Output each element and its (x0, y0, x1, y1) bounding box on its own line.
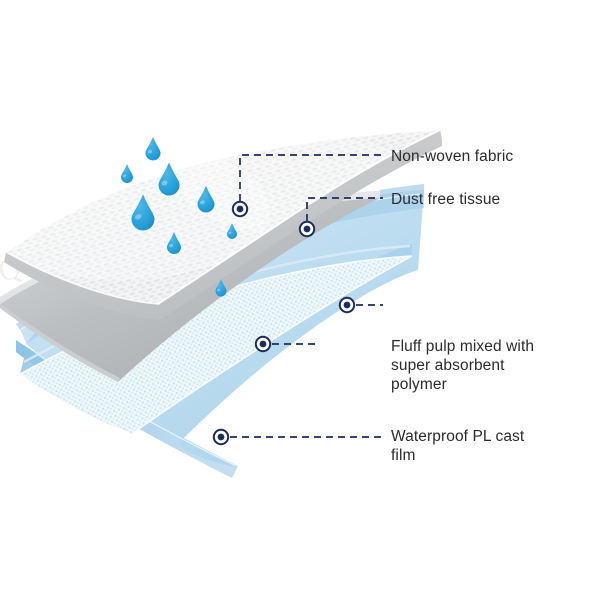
callout-label-waterproof-film: Waterproof PL cast film (391, 427, 524, 465)
layer-cutaway-illustration: QUANTEX QUANTEX QUANTEX (0, 0, 600, 600)
callout-dot-sap-edge-core (344, 302, 351, 309)
callout-dot-waterproof-pl-cast-film-core (218, 434, 225, 441)
callout-dot-dust-free-tissue-core (304, 226, 311, 233)
diagram-canvas: QUANTEX QUANTEX QUANTEX (0, 0, 600, 600)
callout-label-fluff-pulp-sap: Fluff pulp mixed with super absorbent po… (391, 337, 534, 394)
callout-label-dust-free-tissue: Dust free tissue (391, 190, 500, 209)
callout-label-non-woven-fabric: Non-woven fabric (391, 147, 513, 166)
callout-dot-fluff-pulp-sap-core (260, 341, 267, 348)
callout-dot-non-woven-fabric-core (237, 206, 244, 213)
